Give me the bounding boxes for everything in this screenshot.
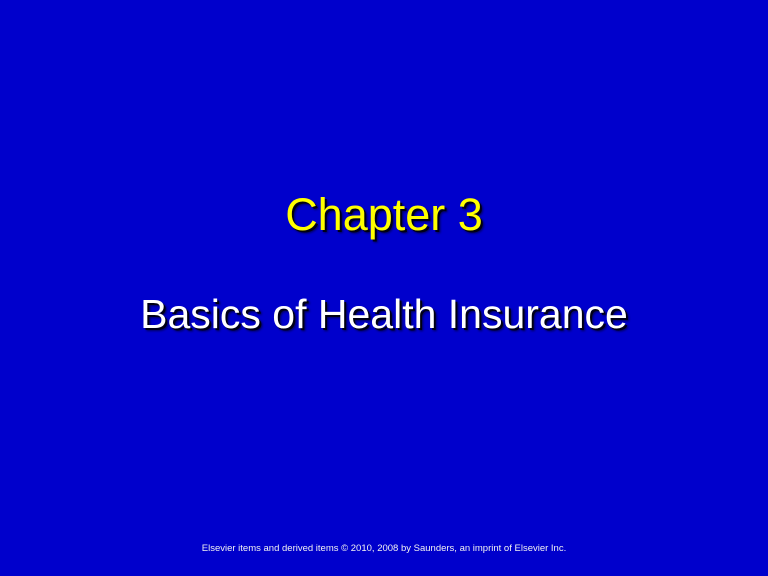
- presentation-slide: Chapter 3 Basics of Health Insurance Els…: [0, 0, 768, 576]
- slide-title: Chapter 3: [0, 191, 768, 240]
- copyright-footer: Elsevier items and derived items © 2010,…: [0, 543, 768, 555]
- slide-subtitle: Basics of Health Insurance: [0, 292, 768, 336]
